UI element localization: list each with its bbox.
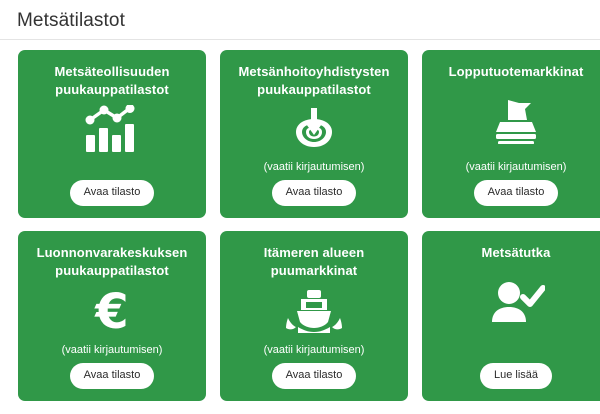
read-more-button[interactable]: Lue lisää (480, 363, 552, 389)
card-login-note: (vaatii kirjautumisen) (264, 160, 365, 174)
tree-stump-axe-icon (230, 99, 398, 160)
statistics-card-grid: Metsäteollisuuden puukauppatilastot Avaa… (0, 40, 600, 401)
card-title: Metsätutka (432, 244, 600, 262)
bar-chart-line-icon (28, 99, 196, 160)
card-itameren-alueen-puumarkkinat[interactable]: Itämeren alueen puumarkkinat (vaatii kir… (220, 231, 408, 401)
page-header: Metsätilastot (0, 0, 600, 34)
open-statistic-button[interactable]: Avaa tilasto (70, 363, 155, 389)
card-login-note: (vaatii kirjautumisen) (62, 343, 163, 357)
card-login-note: (vaatii kirjautumisen) (264, 343, 365, 357)
euro-icon: € (28, 280, 196, 343)
open-statistic-button[interactable]: Avaa tilasto (70, 180, 155, 206)
card-luonnonvarakeskuksen-puukauppatilastot[interactable]: Luonnonvarakeskuksen puukauppatilastot €… (18, 231, 206, 401)
ship-icon (230, 280, 398, 343)
card-metsateollisuuden-puukauppatilastot[interactable]: Metsäteollisuuden puukauppatilastot Avaa… (18, 50, 206, 218)
card-title: Metsäteollisuuden puukauppatilastot (28, 63, 196, 99)
card-metsatutka[interactable]: Metsätutka Lue lisää (422, 231, 600, 401)
card-title: Luonnonvarakeskuksen puukauppatilastot (28, 244, 196, 280)
open-statistic-button[interactable]: Avaa tilasto (474, 180, 559, 206)
open-statistic-button[interactable]: Avaa tilasto (272, 363, 357, 389)
card-title: Lopputuotemarkkinat (432, 63, 600, 81)
inbox-paper-icon (432, 81, 600, 160)
card-title: Itämeren alueen puumarkkinat (230, 244, 398, 280)
card-login-note: (vaatii kirjautumisen) (466, 160, 567, 174)
card-title: Metsänhoitoyhdistysten puukauppatilastot (230, 63, 398, 99)
open-statistic-button[interactable]: Avaa tilasto (272, 180, 357, 206)
user-check-icon (432, 262, 600, 343)
page-title: Metsätilastot (17, 8, 600, 34)
euro-glyph: € (95, 288, 128, 336)
statistics-page: Metsätilastot Metsäteollisuuden puukaupp… (0, 0, 600, 414)
card-metsanhoitoyhdistysten-puukauppatilastot[interactable]: Metsänhoitoyhdistysten puukauppatilastot… (220, 50, 408, 218)
card-lopputuotemarkkinat[interactable]: Lopputuotemarkkinat (vaatii kirjautumise… (422, 50, 600, 218)
